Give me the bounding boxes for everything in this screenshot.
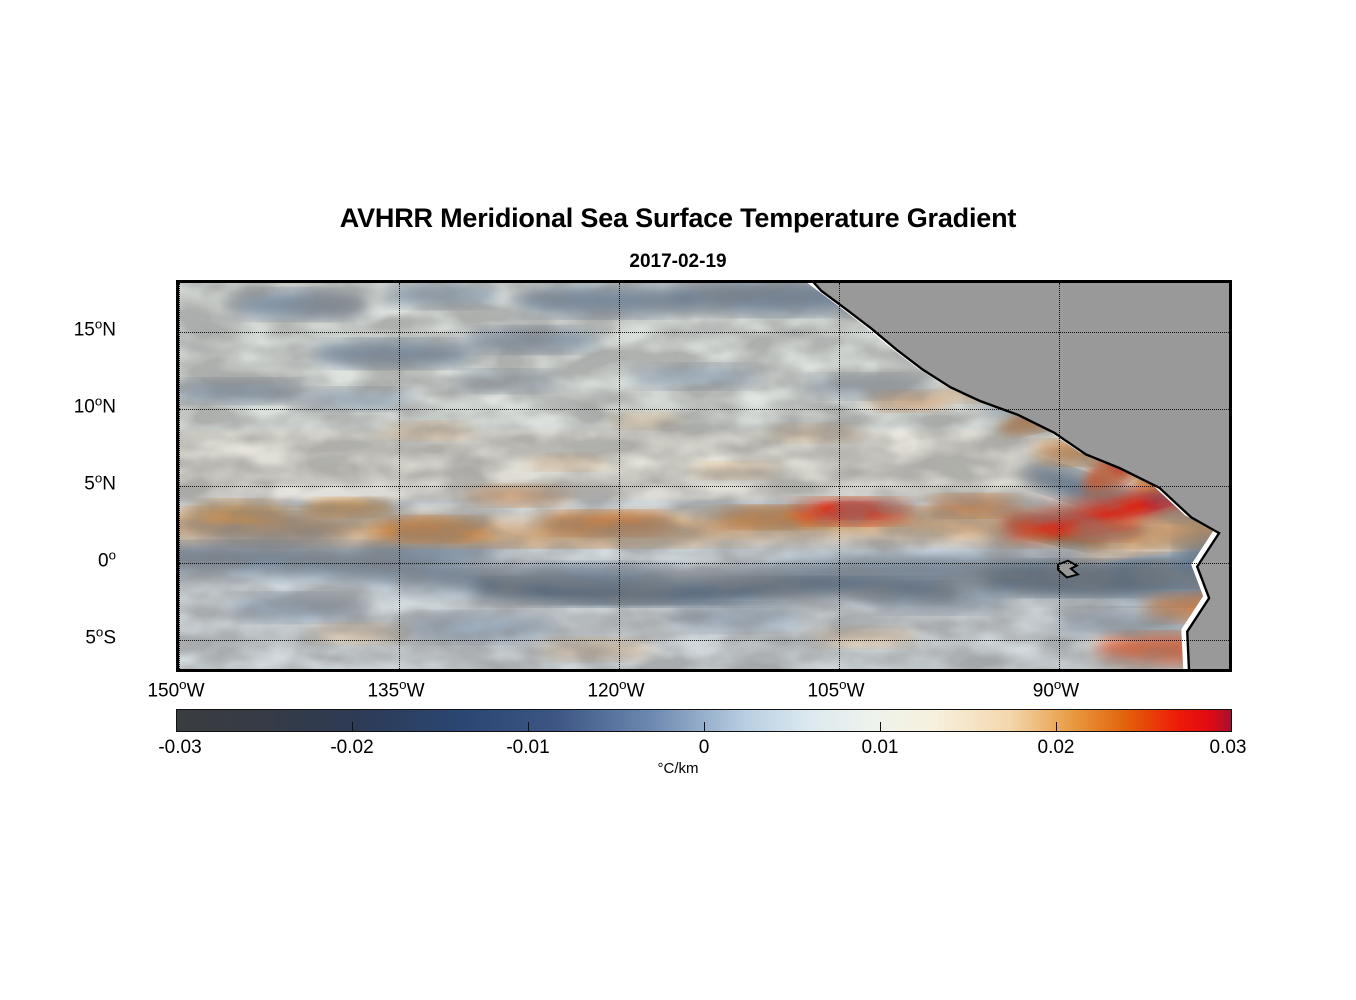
- xtick-label-120W-hemi: W: [627, 680, 645, 701]
- xtick-label-105W-hemi: W: [847, 680, 865, 701]
- ytick-label-10N: 10oN: [74, 393, 116, 418]
- degree-symbol: o: [95, 393, 102, 408]
- xtick-label-105W-num: 105: [807, 680, 839, 701]
- degree-symbol: o: [179, 677, 186, 692]
- colorbar-tick-0.01: [880, 722, 881, 731]
- ytick-label-15N-hemi: N: [102, 320, 116, 341]
- xtick-label-135W-num: 135: [367, 680, 399, 701]
- xtick-label-135W: 135oW: [367, 677, 424, 702]
- ytick-right-10N: [1229, 408, 1232, 411]
- ytick-label-5N: 5oN: [84, 470, 116, 495]
- xtick-label-90W-num: 90: [1033, 680, 1054, 701]
- colorbar-label--0.03: -0.03: [158, 737, 201, 759]
- ytick-label-5N-num: 5: [84, 474, 95, 495]
- degree-symbol: o: [619, 677, 626, 692]
- ytick-label-5N-hemi: N: [102, 474, 116, 495]
- degree-symbol: o: [95, 316, 102, 331]
- colorbar-label-0.01: 0.01: [862, 737, 899, 759]
- xtick-150W: [179, 669, 182, 672]
- colorbar-tick-0.02: [1056, 722, 1057, 731]
- xtick-label-90W: 90oW: [1033, 677, 1079, 702]
- degree-symbol: o: [95, 470, 102, 485]
- ytick-right-5N: [1229, 485, 1232, 488]
- colorbar-unit-label: °C/km: [0, 760, 1356, 777]
- sst-gradient-field: [179, 283, 1229, 669]
- xtick-label-120W: 120oW: [587, 677, 644, 702]
- xtick-label-105W: 105oW: [807, 677, 864, 702]
- xtick-label-150W: 150oW: [147, 677, 204, 702]
- ytick-label-10N-num: 10: [74, 397, 95, 418]
- ytick-label-5S-num: 5: [85, 628, 96, 649]
- colorbar-tick--0.01: [528, 722, 529, 731]
- ytick-label-15N-num: 15: [74, 320, 95, 341]
- xtick-135W: [398, 669, 401, 672]
- ytick-0: [176, 562, 179, 565]
- ytick-5S: [176, 639, 179, 642]
- ytick-5N: [176, 485, 179, 488]
- degree-symbol: o: [839, 677, 846, 692]
- ytick-label-15N: 15oN: [74, 316, 116, 341]
- xtick-label-150W-hemi: W: [187, 680, 205, 701]
- xtick-top-105W: [838, 280, 841, 283]
- colorbar-tick--0.02: [352, 722, 353, 731]
- xtick-top-90W: [1058, 280, 1061, 283]
- degree-symbol: o: [1054, 677, 1061, 692]
- figure-canvas: AVHRR Meridional Sea Surface Temperature…: [0, 0, 1356, 1000]
- ytick-10N: [176, 408, 179, 411]
- degree-symbol: o: [96, 624, 103, 639]
- colorbar-label--0.02: -0.02: [330, 737, 373, 759]
- ytick-right-5S: [1229, 639, 1232, 642]
- colorbar-label--0.01: -0.01: [506, 737, 549, 759]
- colorbar-label-0: 0: [699, 737, 710, 759]
- ytick-15N: [176, 331, 179, 334]
- colorbar-tick-0: [704, 722, 705, 731]
- ytick-label-5S-hemi: S: [103, 628, 116, 649]
- xtick-top-120W: [618, 280, 621, 283]
- ytick-label-0: 0o: [98, 547, 116, 572]
- degree-symbol: o: [109, 547, 116, 562]
- ytick-label-0-num: 0: [98, 551, 109, 572]
- figure-title: AVHRR Meridional Sea Surface Temperature…: [0, 203, 1356, 234]
- xtick-label-150W-num: 150: [147, 680, 179, 701]
- ytick-label-10N-hemi: N: [102, 397, 116, 418]
- colorbar-label-0.02: 0.02: [1038, 737, 1075, 759]
- colorbar[interactable]: [176, 709, 1232, 732]
- xtick-105W: [838, 669, 841, 672]
- xtick-120W: [618, 669, 621, 672]
- xtick-label-120W-num: 120: [587, 680, 619, 701]
- map-plot-area[interactable]: [176, 280, 1232, 672]
- figure-subtitle: 2017-02-19: [0, 251, 1356, 273]
- ytick-right-15N: [1229, 331, 1232, 334]
- xtick-90W: [1058, 669, 1061, 672]
- colorbar-label-0.03: 0.03: [1210, 737, 1247, 759]
- degree-symbol: o: [399, 677, 406, 692]
- ytick-right-0: [1229, 562, 1232, 565]
- ytick-label-5S: 5oS: [85, 624, 116, 649]
- xtick-top-135W: [398, 280, 401, 283]
- xtick-label-90W-hemi: W: [1061, 680, 1079, 701]
- xtick-label-135W-hemi: W: [407, 680, 425, 701]
